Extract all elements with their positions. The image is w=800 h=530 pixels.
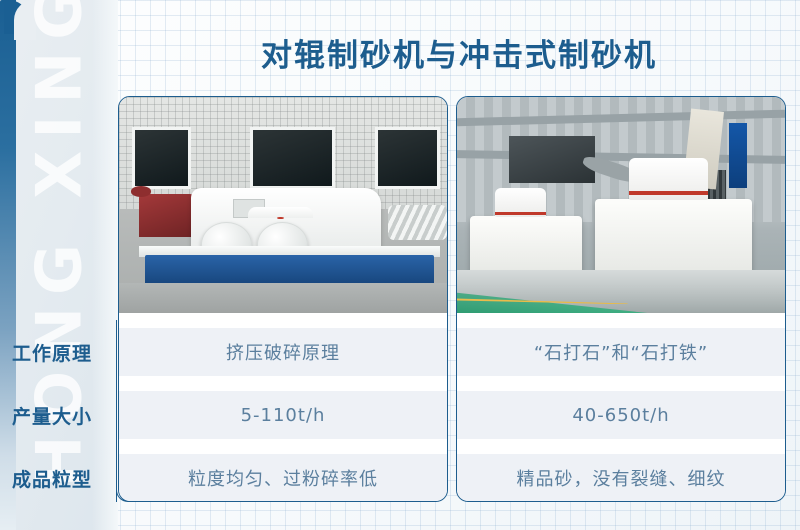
row-label-text: 产量大小	[12, 402, 92, 429]
product-card-vsi[interactable]: “石打石”和“石打铁” 40-650t/h 精品砂，没有裂缝、细纹	[456, 96, 786, 502]
spec-rows-left: 挤压破碎原理 5-110t/h 粒度均匀、过粉碎率低	[119, 313, 447, 502]
product-photo-double-roller	[119, 97, 447, 313]
spec-value: 40-650t/h	[457, 391, 785, 439]
product-card-double-roller[interactable]: 挤压破碎原理 5-110t/h 粒度均匀、过粉碎率低	[118, 96, 448, 502]
spec-rows-right: “石打石”和“石打铁” 40-650t/h 精品砂，没有裂缝、细纹	[457, 313, 785, 502]
spec-value: 5-110t/h	[119, 391, 447, 439]
spec-value: 精品砂，没有裂缝、细纹	[457, 454, 785, 502]
row-label-text: 工作原理	[12, 339, 92, 366]
spec-value: 粒度均匀、过粉碎率低	[119, 454, 447, 502]
page-title: 对辊制砂机与冲击式制砂机	[118, 30, 800, 75]
product-photo-vsi	[457, 97, 785, 313]
spec-value: “石打石”和“石打铁”	[457, 328, 785, 376]
spec-value: 挤压破碎原理	[119, 328, 447, 376]
row-label-text: 成品粒型	[12, 465, 92, 492]
poster-canvas: HONG XING 对辊制砂机与冲击式制砂机 工作原理 产量大小 成品粒型	[0, 0, 800, 530]
